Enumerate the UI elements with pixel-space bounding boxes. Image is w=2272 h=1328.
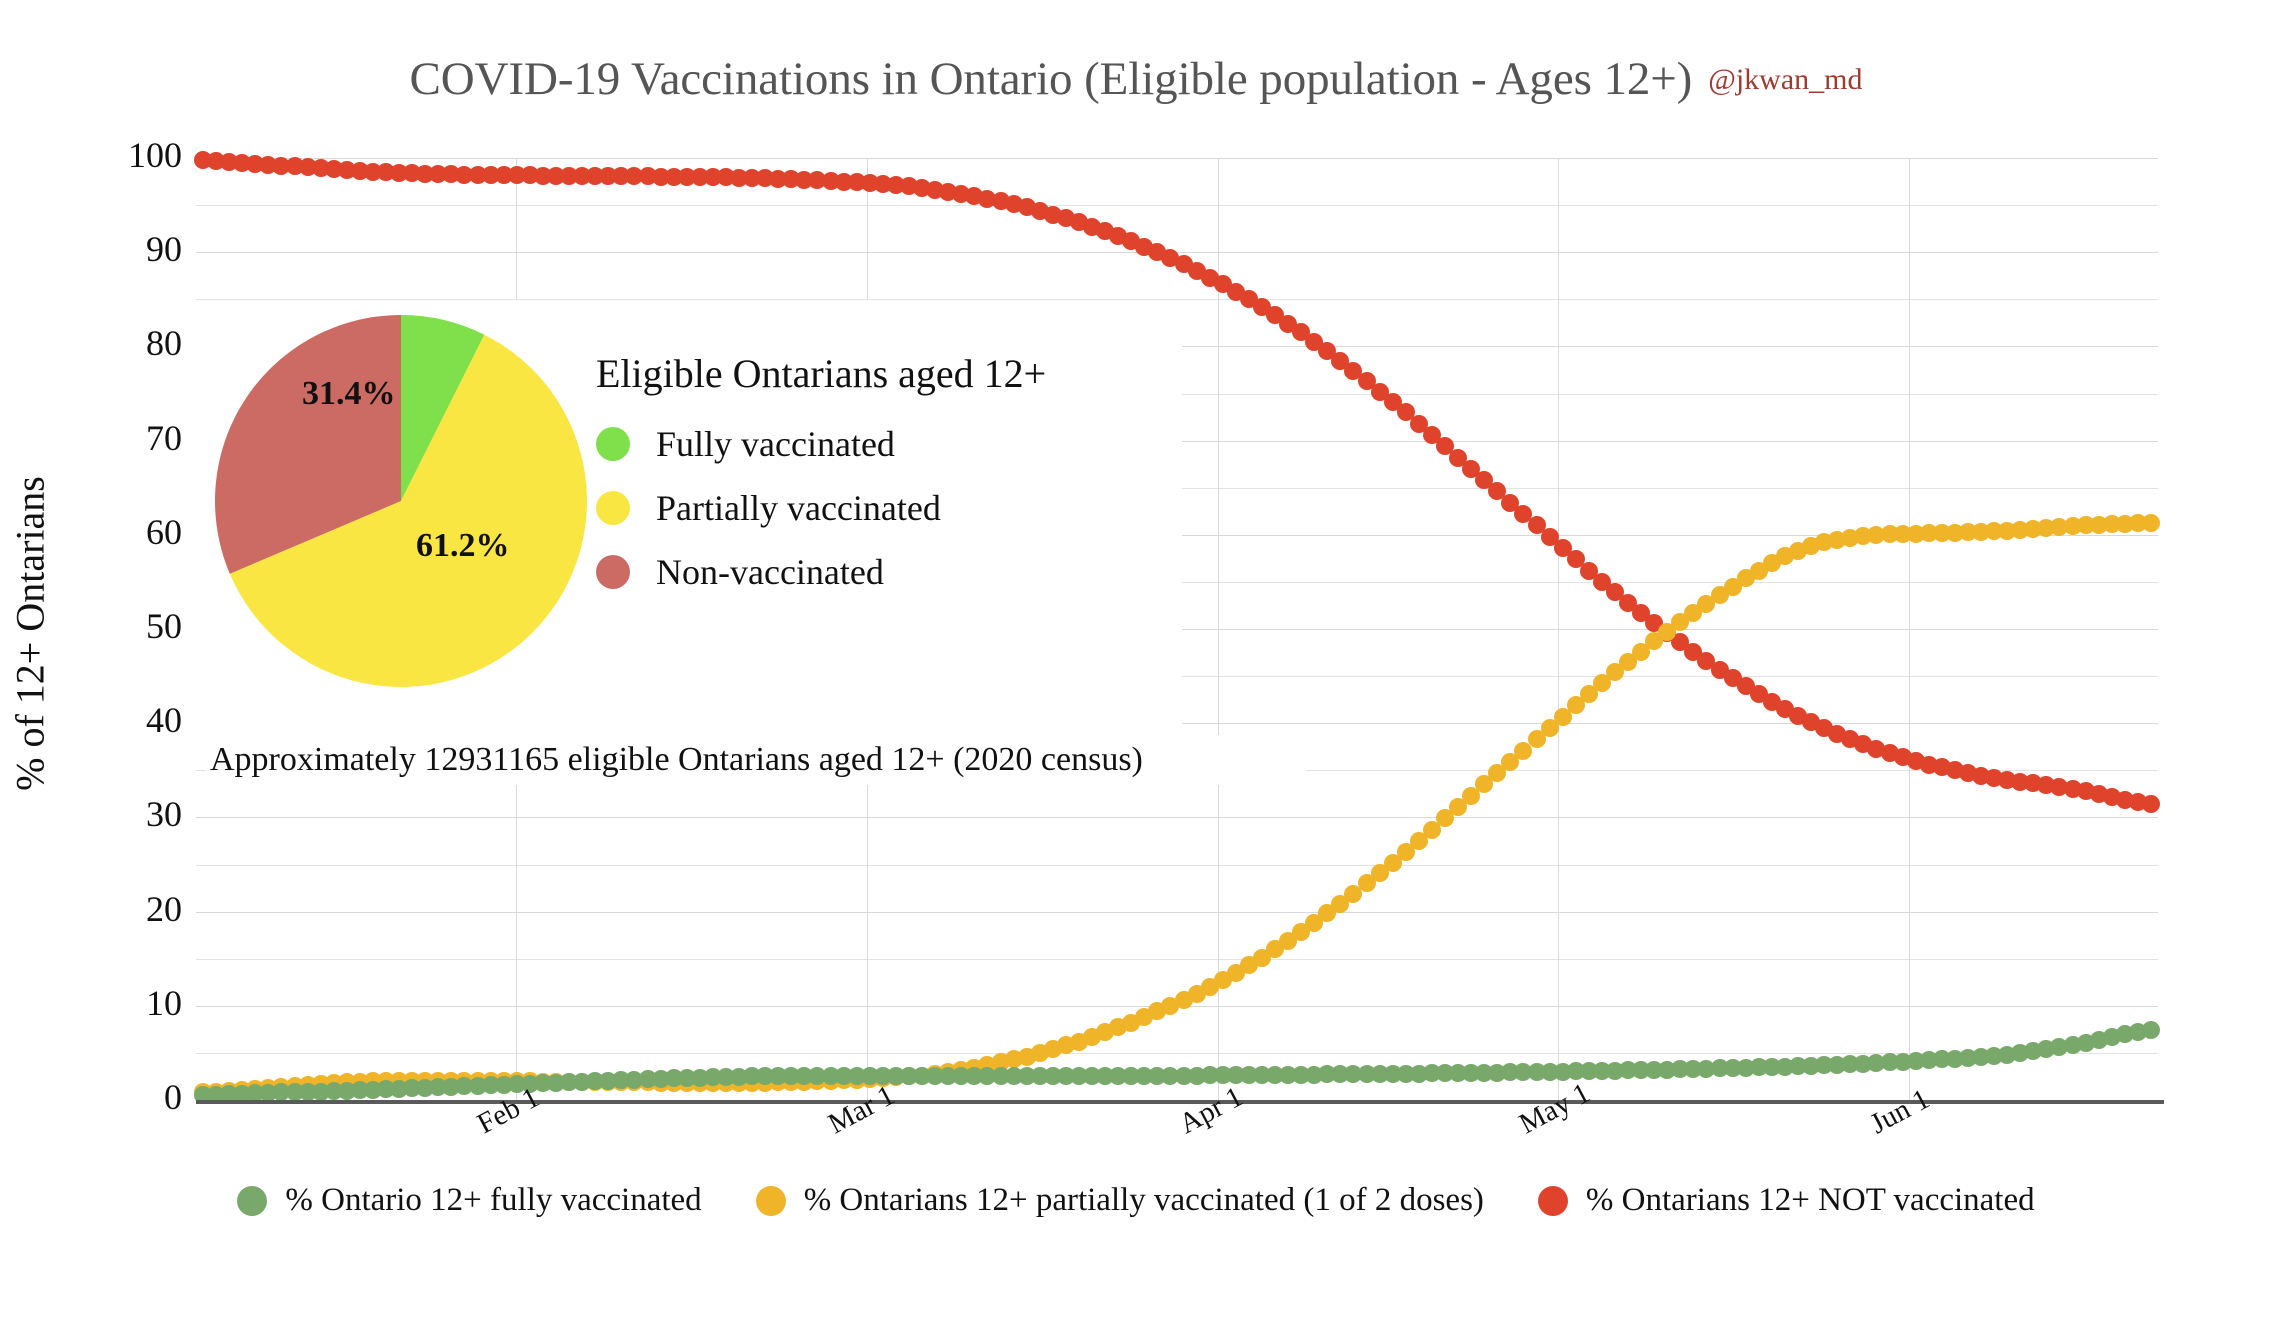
legend-swatch-yellow-icon bbox=[756, 1186, 786, 1216]
pie-legend-label: Fully vaccinated bbox=[656, 423, 895, 465]
gridline bbox=[196, 1053, 2158, 1054]
pie-chart: 31.4%61.2% bbox=[206, 306, 596, 696]
title-row: COVID-19 Vaccinations in Ontario (Eligib… bbox=[0, 52, 2272, 106]
legend-item-not-vaccinated[interactable]: % Ontarians 12+ NOT vaccinated bbox=[1538, 1182, 2035, 1219]
pie-legend-title: Eligible Ontarians aged 12+ bbox=[596, 350, 1176, 397]
vertical-gridline bbox=[1909, 158, 1910, 1100]
page-title: COVID-19 Vaccinations in Ontario (Eligib… bbox=[410, 53, 1693, 105]
author-handle: @jkwan_md bbox=[1708, 63, 1862, 96]
vertical-gridline bbox=[1558, 158, 1559, 1100]
swatch-partially-vaccinated-icon bbox=[596, 491, 630, 525]
legend-swatch-green-icon bbox=[237, 1186, 267, 1216]
chart-legend: % Ontario 12+ fully vaccinated % Ontaria… bbox=[0, 1182, 2272, 1219]
y-tick-label: 40 bbox=[62, 702, 182, 738]
y-tick-label: 10 bbox=[62, 985, 182, 1021]
y-tick-label: 0 bbox=[62, 1079, 182, 1115]
y-tick-label: 100 bbox=[62, 137, 182, 173]
legend-swatch-red-icon bbox=[1538, 1186, 1568, 1216]
gridline bbox=[196, 959, 2158, 960]
y-axis-label: % of 12+ Ontarians bbox=[7, 354, 54, 914]
legend-label: % Ontarians 12+ NOT vaccinated bbox=[1586, 1182, 2035, 1219]
gridline bbox=[196, 817, 2158, 818]
gridline bbox=[196, 158, 2158, 159]
chart-page: COVID-19 Vaccinations in Ontario (Eligib… bbox=[0, 0, 2272, 1328]
data-point bbox=[2142, 1021, 2160, 1039]
pie-legend: Eligible Ontarians aged 12+ Fully vaccin… bbox=[596, 350, 1176, 615]
data-point bbox=[2142, 795, 2160, 813]
y-tick-label: 80 bbox=[62, 325, 182, 361]
legend-item-fully-vaccinated[interactable]: % Ontario 12+ fully vaccinated bbox=[237, 1182, 701, 1219]
y-tick-label: 60 bbox=[62, 514, 182, 550]
data-point bbox=[2142, 514, 2160, 532]
pie-slice-label: 31.4% bbox=[302, 375, 396, 412]
y-axis-ticks: 0102030405060708090100 bbox=[52, 0, 182, 1328]
legend-label: % Ontarians 12+ partially vaccinated (1 … bbox=[804, 1182, 1484, 1219]
swatch-non-vaccinated-icon bbox=[596, 555, 630, 589]
pie-slice-label: 61.2% bbox=[416, 527, 510, 564]
swatch-fully-vaccinated-icon bbox=[596, 427, 630, 461]
census-note: Approximately 12931165 eligible Ontarian… bbox=[206, 735, 1306, 785]
gridline bbox=[196, 912, 2158, 913]
vertical-gridline bbox=[1218, 158, 1219, 1100]
pie-legend-label: Non-vaccinated bbox=[656, 551, 884, 593]
y-tick-label: 70 bbox=[62, 420, 182, 456]
pie-legend-label: Partially vaccinated bbox=[656, 487, 941, 529]
y-tick-label: 30 bbox=[62, 796, 182, 832]
y-tick-label: 20 bbox=[62, 891, 182, 927]
pie-legend-item-fully: Fully vaccinated bbox=[596, 423, 1176, 465]
pie-legend-item-partially: Partially vaccinated bbox=[596, 487, 1176, 529]
pie-legend-item-non: Non-vaccinated bbox=[596, 551, 1176, 593]
legend-item-partially-vaccinated[interactable]: % Ontarians 12+ partially vaccinated (1 … bbox=[756, 1182, 1484, 1219]
gridline bbox=[196, 865, 2158, 866]
y-tick-label: 50 bbox=[62, 608, 182, 644]
pie-overlay-panel: 31.4%61.2% Eligible Ontarians aged 12+ F… bbox=[196, 300, 1182, 760]
gridline bbox=[196, 205, 2158, 206]
legend-label: % Ontario 12+ fully vaccinated bbox=[285, 1182, 701, 1219]
y-tick-label: 90 bbox=[62, 231, 182, 267]
